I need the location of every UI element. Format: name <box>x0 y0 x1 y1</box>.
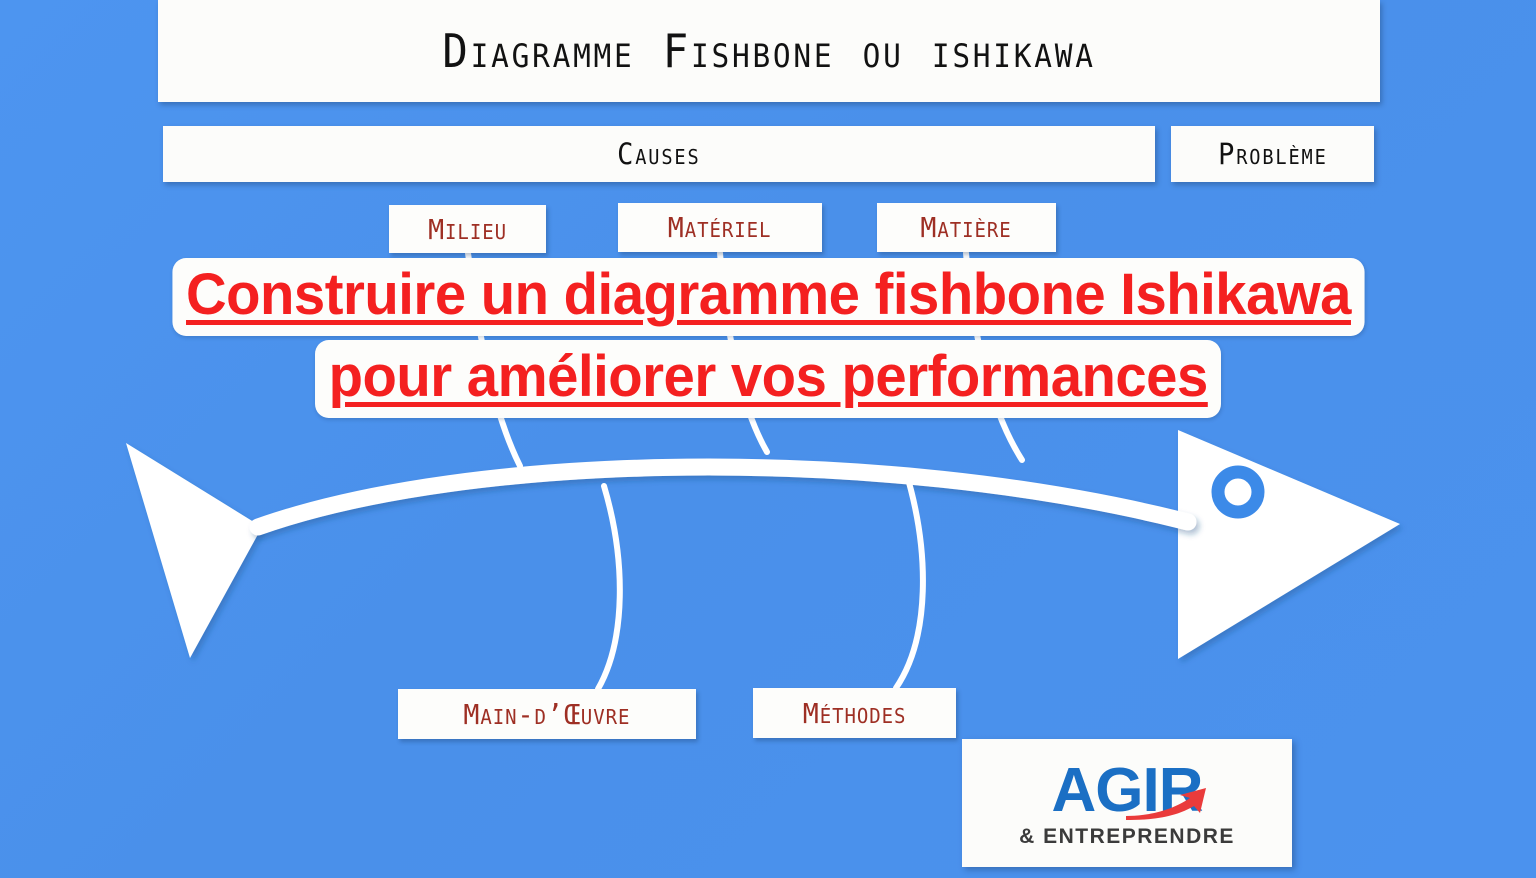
category-box-materiel: Matériel <box>618 203 822 252</box>
slide-title-text: Diagramme Fishbone ou ishikawa <box>442 24 1095 78</box>
logo-arrow-icon <box>1124 786 1210 820</box>
causes-header-box: Causes <box>163 126 1155 182</box>
category-box-matiere: Matière <box>877 203 1056 252</box>
category-box-methodes: Méthodes <box>753 688 956 738</box>
logo-tagline: & ENTREPRENDRE <box>1019 826 1235 847</box>
logo-wordmark-wrap: AGIR <box>1052 760 1203 822</box>
category-label-materiel: Matériel <box>668 211 772 244</box>
probleme-header-box: Problème <box>1171 126 1374 182</box>
bone-milieu <box>468 253 520 466</box>
bone-main-doeuvre <box>598 486 620 689</box>
fish-spine <box>258 467 1188 527</box>
bone-materiel <box>720 253 767 452</box>
category-label-milieu: Milieu <box>428 213 507 246</box>
fish-tail-icon <box>126 443 262 658</box>
bone-matiere <box>966 253 1022 460</box>
category-label-methodes: Méthodes <box>803 697 907 730</box>
category-box-main-doeuvre: Main-d’Œuvre <box>398 689 696 739</box>
fish-head-icon <box>1178 430 1400 659</box>
fishbone-diagram-slide: Diagramme Fishbone ou ishikawa Causes Pr… <box>0 0 1536 878</box>
agir-logo-box: AGIR & ENTREPRENDRE <box>962 739 1292 867</box>
causes-label: Causes <box>617 137 700 171</box>
bone-methodes <box>896 472 923 688</box>
fish-eye-pupil-icon <box>1228 482 1248 502</box>
category-label-matiere: Matière <box>921 211 1012 244</box>
probleme-label: Problème <box>1218 137 1328 171</box>
category-box-milieu: Milieu <box>389 205 546 253</box>
category-label-main-doeuvre: Main-d’Œuvre <box>464 698 631 731</box>
slide-title-box: Diagramme Fishbone ou ishikawa <box>158 0 1380 102</box>
